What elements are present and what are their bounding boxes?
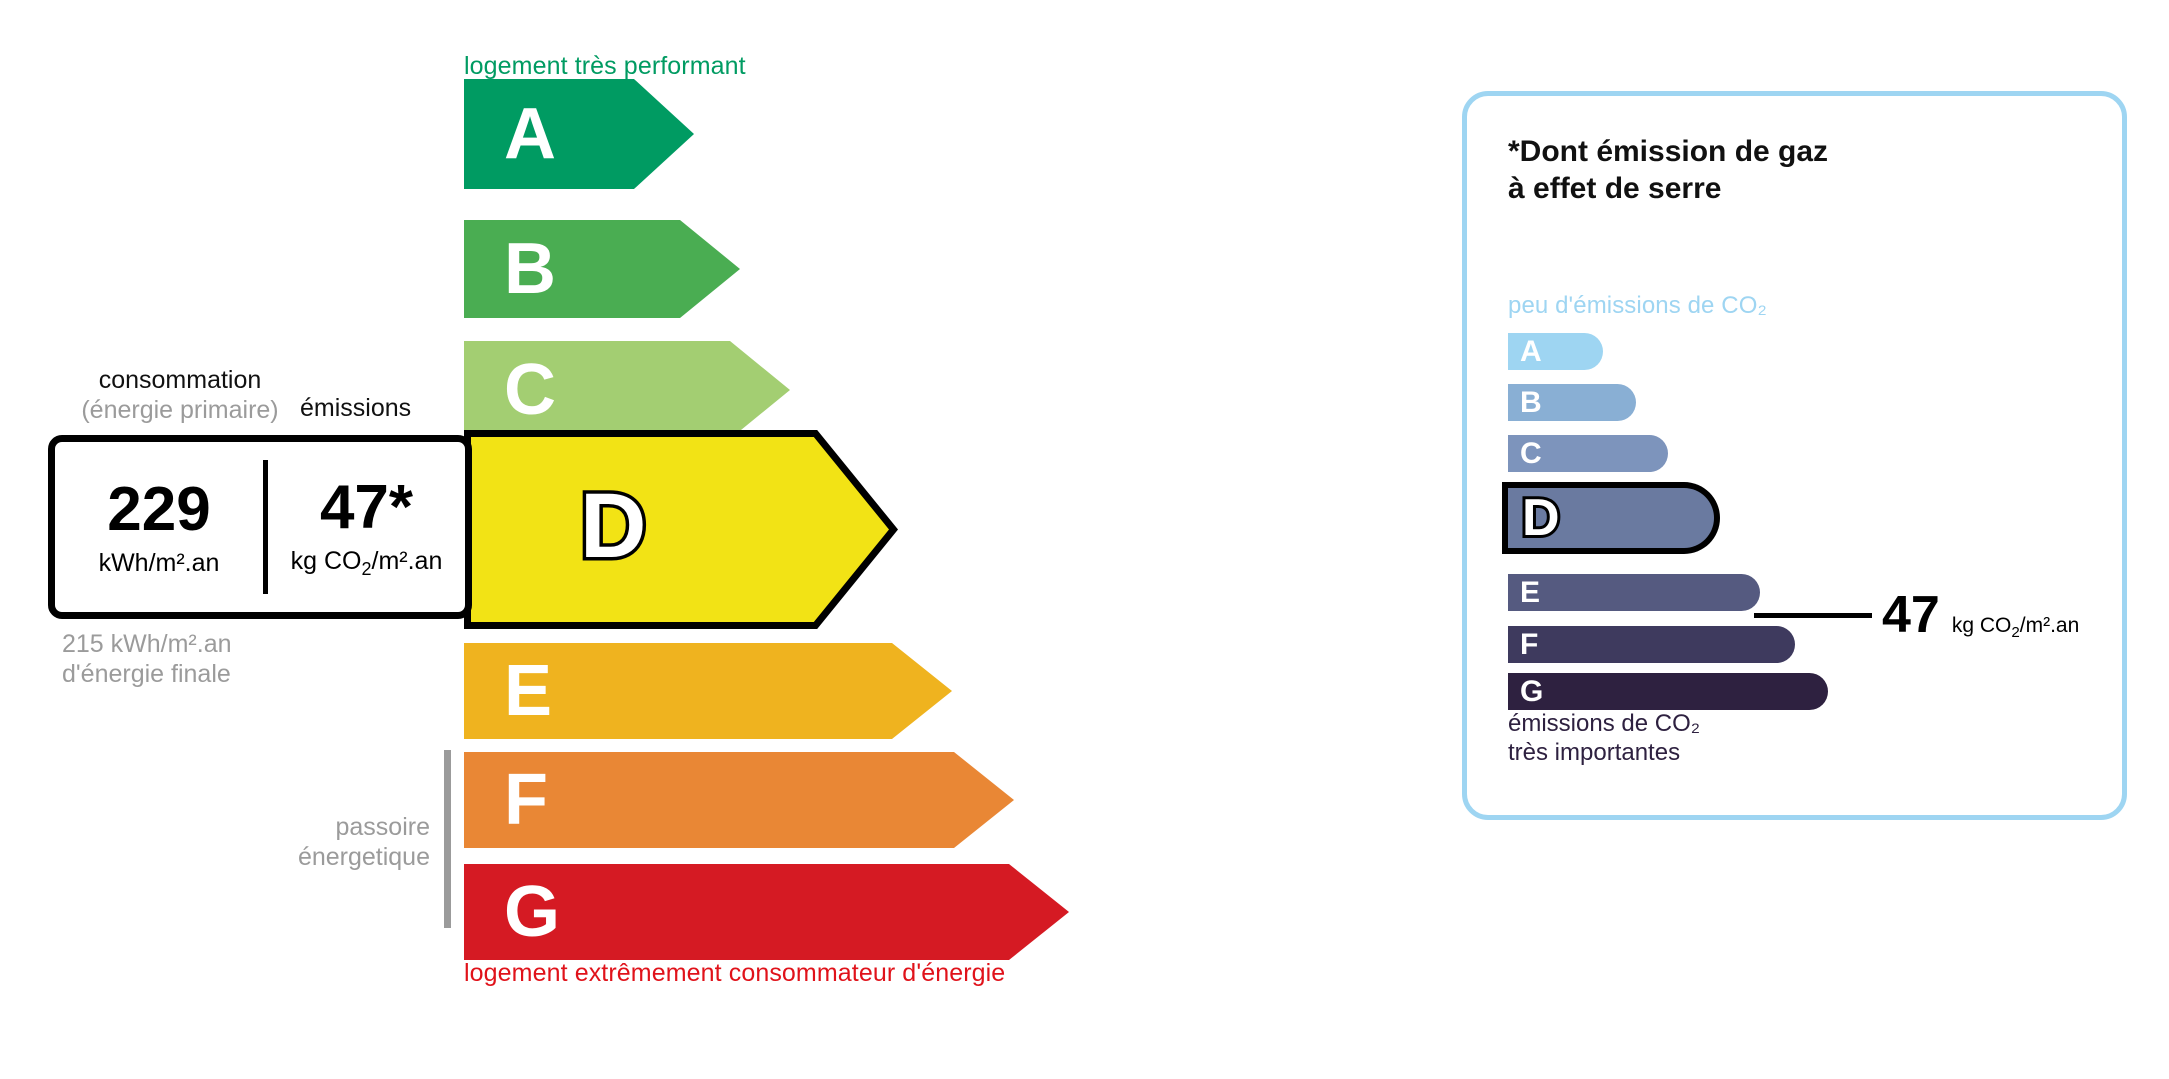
energy-class-letter-b: B — [504, 233, 556, 305]
co2-class-b[interactable]: B — [1508, 384, 1636, 421]
co2-bar-shape-g: G — [1508, 673, 1828, 710]
energy-class-letter-e: E — [504, 655, 552, 727]
energy-class-letter-f: F — [504, 764, 548, 836]
co2-class-letter-b: B — [1520, 388, 1542, 418]
energy-class-e[interactable]: E — [464, 643, 952, 739]
co2-class-letter-g: G — [1520, 677, 1543, 707]
co2-bar-shape-d: D — [1508, 482, 1720, 554]
co2-class-d[interactable]: D — [1508, 482, 1720, 554]
co2-class-g[interactable]: G — [1508, 673, 1828, 710]
energy-class-letter-d: D — [580, 480, 646, 572]
co2-class-letter-a: A — [1520, 337, 1542, 367]
co2-bottom-caption-line1: émissions de CO₂ — [1508, 710, 1700, 739]
co2-class-e[interactable]: E — [1508, 574, 1760, 611]
emissions-cell: 47* kg CO2/m².an — [268, 442, 465, 612]
passoire-label: passoire énergetique — [180, 812, 430, 872]
co2-class-letter-f: F — [1520, 630, 1538, 660]
co2-callout-unit: kg CO2/m².an — [1952, 614, 2079, 641]
co2-class-a[interactable]: A — [1508, 333, 1603, 370]
emissions-label: émissions — [300, 394, 411, 423]
value-box: 229 kWh/m².an 47* kg CO2/m².an — [48, 435, 472, 619]
co2-class-c[interactable]: C — [1508, 435, 1668, 472]
consumption-label-sub: (énergie primaire) — [60, 396, 300, 426]
co2-callout-value: 47 — [1882, 589, 1940, 641]
consumption-value: 229 — [107, 479, 210, 541]
energy-class-g[interactable]: G — [464, 864, 1069, 960]
ladder-bottom-caption: logement extrêmement consommateur d'éner… — [464, 959, 1005, 988]
energy-ladder-panel: logement très performant ABCDEFG 229 kWh… — [0, 0, 1400, 1079]
energy-class-f[interactable]: F — [464, 752, 1014, 848]
energy-class-b[interactable]: B — [464, 220, 740, 318]
co2-bar-shape-f: F — [1508, 626, 1795, 663]
energy-class-a[interactable]: A — [464, 79, 694, 189]
co2-bottom-caption: émissions de CO₂ très importantes — [1508, 710, 1700, 768]
co2-class-f[interactable]: F — [1508, 626, 1795, 663]
co2-class-letter-e: E — [1520, 578, 1540, 608]
co2-panel-title: *Dont émission de gaz à effet de serre — [1508, 134, 1828, 207]
emissions-unit: kg CO2/m².an — [291, 549, 443, 578]
energy-class-c[interactable]: C — [464, 341, 790, 439]
final-energy-line1: 215 kWh/m².an — [62, 630, 232, 660]
dpe-diagram: logement très performant ABCDEFG 229 kWh… — [0, 0, 2169, 1079]
final-energy-label: 215 kWh/m².an d'énergie finale — [62, 630, 232, 689]
co2-title-line2: à effet de serre — [1508, 171, 1828, 208]
energy-class-d[interactable]: D — [464, 430, 890, 622]
co2-class-letter-d: D — [1522, 492, 1560, 544]
energy-class-letter-c: C — [504, 354, 556, 426]
passoire-label-line2: énergetique — [180, 842, 430, 872]
co2-leader-line — [1754, 613, 1872, 618]
co2-panel: *Dont émission de gaz à effet de serre p… — [1462, 91, 2127, 820]
consumption-cell: 229 kWh/m².an — [55, 442, 263, 612]
emissions-value: 47* — [320, 477, 413, 539]
co2-class-letter-c: C — [1520, 439, 1542, 469]
co2-callout: 47 kg CO2/m².an — [1754, 589, 2079, 641]
co2-bottom-caption-line2: très importantes — [1508, 739, 1700, 768]
consumption-label: consommation (énergie primaire) — [60, 366, 300, 425]
energy-arrow-shape-a — [464, 79, 694, 189]
consumption-label-main: consommation — [99, 366, 262, 394]
passoire-label-line1: passoire — [180, 812, 430, 842]
consumption-unit: kWh/m².an — [99, 551, 220, 576]
co2-title-line1: *Dont émission de gaz — [1508, 134, 1828, 171]
co2-bar-shape-e: E — [1508, 574, 1760, 611]
co2-top-caption: peu d'émissions de CO₂ — [1508, 292, 1767, 320]
energy-class-letter-g: G — [504, 876, 560, 948]
energy-arrow-shape-d — [464, 430, 897, 629]
co2-bar-shape-b: B — [1508, 384, 1636, 421]
passoire-bracket — [444, 750, 451, 928]
final-energy-line2: d'énergie finale — [62, 660, 232, 690]
co2-bar-shape-c: C — [1508, 435, 1668, 472]
co2-bar-shape-a: A — [1508, 333, 1603, 370]
energy-class-letter-a: A — [504, 98, 556, 170]
